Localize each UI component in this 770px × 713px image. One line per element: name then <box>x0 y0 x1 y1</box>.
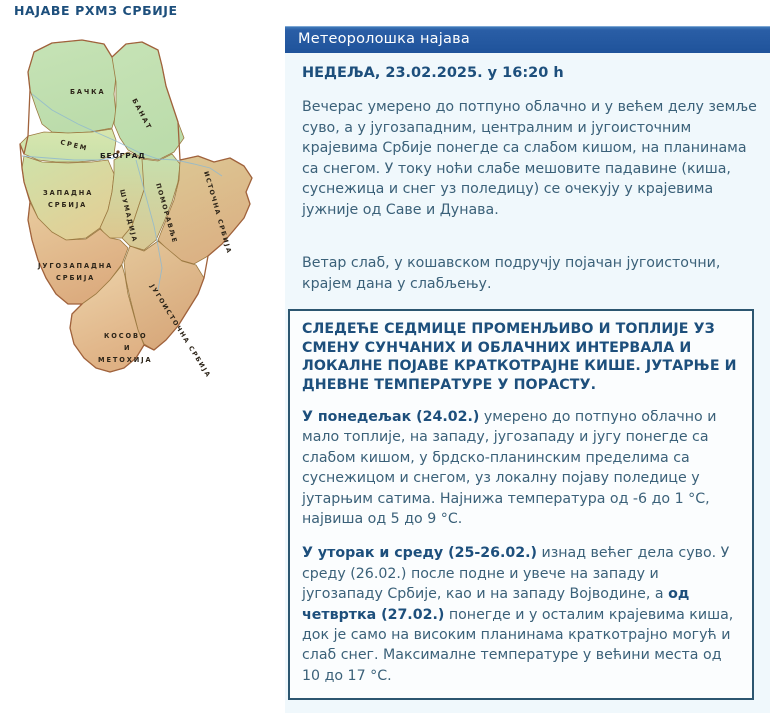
panel-body: НЕДЕЉА, 23.02.2025. у 16:20 h Вечерас ум… <box>285 53 770 713</box>
panel-header-bar: Метеоролошка најава <box>285 26 770 53</box>
map-region-label: ЗАПАДНА <box>43 189 93 197</box>
serbia-region-map[interactable]: БАЧКАБАНАТСРЕМБЕОГРАДЗАПАДНАСРБИЈАШУМАДИ… <box>8 32 280 392</box>
map-region-label: БЕОГРАД <box>100 151 146 160</box>
weekly-outlook-monday: У понедељак (24.02.) умерено до потпуно … <box>302 407 740 529</box>
map-region-label: МЕТОХИЈА <box>98 356 153 364</box>
weekly-outlook-box: СЛЕДЕЋЕ СЕДМИЦЕ ПРОМЕНЉИВО И ТОПЛИЈЕ УЗ … <box>288 309 754 700</box>
map-region-banat <box>112 42 184 160</box>
weekly-outlook-monday-text: умерено до потпуно облачно и мало топлиј… <box>302 409 716 527</box>
left-column: НАЈАВЕ РХМЗ СРБИЈЕ <box>0 0 285 713</box>
map-region-label: СРБИЈА <box>48 201 87 209</box>
weekly-outlook-tue-wed: У уторак и среду (25-26.02.) изнад већег… <box>302 543 740 686</box>
page-root: НАЈАВЕ РХМЗ СРБИЈЕ <box>0 0 770 713</box>
panel-top-spacer <box>285 0 770 26</box>
weekly-outlook-tuewed-lead: У уторак и среду (25-26.02.) <box>302 545 537 561</box>
forecast-paragraph-wind: Ветар слаб, у кошавском подручју појачан… <box>302 253 763 294</box>
map-region-backa <box>28 40 116 133</box>
panel-header-title: Метеоролошка најава <box>298 31 470 47</box>
site-title: НАЈАВЕ РХМЗ СРБИЈЕ <box>14 3 178 18</box>
weekly-outlook-title: СЛЕДЕЋЕ СЕДМИЦЕ ПРОМЕНЉИВО И ТОПЛИЈЕ УЗ … <box>302 320 740 394</box>
weekly-outlook-monday-lead: У понедељак (24.02.) <box>302 409 479 425</box>
forecast-date-heading: НЕДЕЉА, 23.02.2025. у 16:20 h <box>302 65 564 81</box>
map-region-label: БАЧКА <box>70 88 105 96</box>
map-region-label: И <box>124 344 131 352</box>
map-region-label: КОСОВО <box>104 332 147 340</box>
forecast-paragraph-evening: Вечерас умерено до потпуно облачно и у в… <box>302 97 763 220</box>
map-region-label: ЈУГОЗАПАДНА <box>37 262 113 270</box>
map-svg: БАЧКАБАНАТСРЕМБЕОГРАДЗАПАДНАСРБИЈАШУМАДИ… <box>8 32 280 392</box>
map-region-label: СРБИЈА <box>56 274 95 282</box>
right-panel: Метеоролошка најава НЕДЕЉА, 23.02.2025. … <box>285 0 770 713</box>
